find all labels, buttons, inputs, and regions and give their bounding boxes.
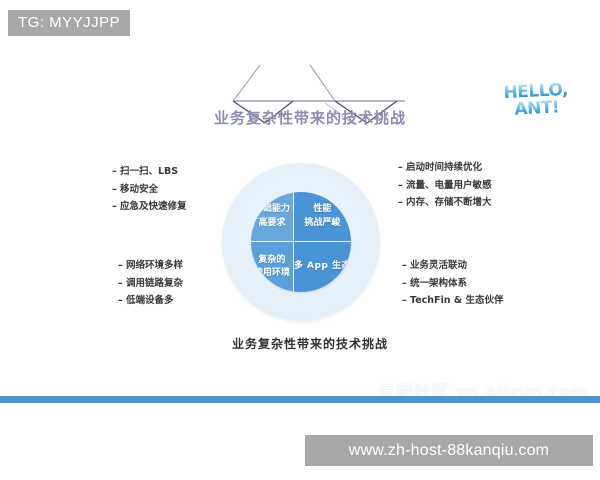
list-item: –流量、电量用户敏感: [398, 177, 492, 195]
slide-canvas: HELLO, ANT! 业务复杂性带来的技术挑战 基础能力 高要求 性能 挑战严…: [0, 45, 600, 405]
list-item: –应急及快速修复: [112, 198, 187, 216]
quadrant-top-left-line2: 高要求: [258, 217, 285, 230]
bullet-text: TechFin & 生态伙伴: [410, 295, 503, 306]
slide-caption: 业务复杂性带来的技术挑战: [150, 335, 470, 352]
bullets-top-left: –扫一扫、LBS –移动安全 –应急及快速修复: [112, 163, 187, 216]
list-item: –TechFin & 生态伙伴: [402, 292, 503, 310]
bullet-text: 低端设备多: [126, 295, 174, 306]
list-item: –启动时间持续优化: [398, 159, 492, 177]
bullets-bottom-left: –网络环境多样 –调用链路复杂 –低端设备多: [118, 257, 183, 310]
quadrant-top-right-line1: 性能: [313, 203, 331, 216]
quadrant-top-right-line2: 挑战严峻: [304, 217, 340, 230]
quadrant-circle: 基础能力 高要求 性能 挑战严峻 复杂的 使用环境 多 App 生态: [251, 192, 351, 292]
bullets-top-right: –启动时间持续优化 –流量、电量用户敏感 –内存、存储不断增大: [398, 159, 492, 212]
logo-line-2: ANT!: [504, 98, 589, 119]
list-item: –调用链路复杂: [118, 275, 183, 293]
list-item: –网络环境多样: [118, 257, 183, 275]
banner-title: 业务复杂性带来的技术挑战: [150, 107, 470, 128]
bullet-text: 应急及快速修复: [120, 201, 187, 212]
bullets-bottom-right: –业务灵活联动 –统一架构体系 –TechFin & 生态伙伴: [402, 257, 503, 310]
url-overlay-bar: www.zh-host-88kanqiu.com: [305, 435, 593, 466]
bullet-text: 业务灵活联动: [410, 260, 467, 271]
bullet-text: 网络环境多样: [126, 260, 183, 271]
list-item: –业务灵活联动: [402, 257, 503, 275]
bullet-text: 统一架构体系: [410, 278, 467, 289]
tg-handle-badge: TG: MYYJJPP: [8, 10, 130, 36]
list-item: –统一架构体系: [402, 275, 503, 293]
bullet-text: 移动安全: [120, 184, 158, 195]
blue-divider-rule: [0, 396, 600, 403]
list-item: –低端设备多: [118, 292, 183, 310]
quadrant-bottom-left-line1: 复杂的: [258, 254, 285, 267]
bullet-text: 启动时间持续优化: [406, 162, 482, 173]
list-item: –内存、存储不断增大: [398, 194, 492, 212]
list-item: –扫一扫、LBS: [112, 163, 187, 181]
bullet-text: 调用链路复杂: [126, 278, 183, 289]
bullet-text: 流量、电量用户敏感: [406, 180, 492, 191]
bullet-text: 内存、存储不断增大: [406, 197, 492, 208]
hello-ant-logo: HELLO, ANT!: [503, 81, 589, 119]
list-item: –移动安全: [112, 181, 187, 199]
bullet-text: 扫一扫、LBS: [120, 166, 178, 177]
